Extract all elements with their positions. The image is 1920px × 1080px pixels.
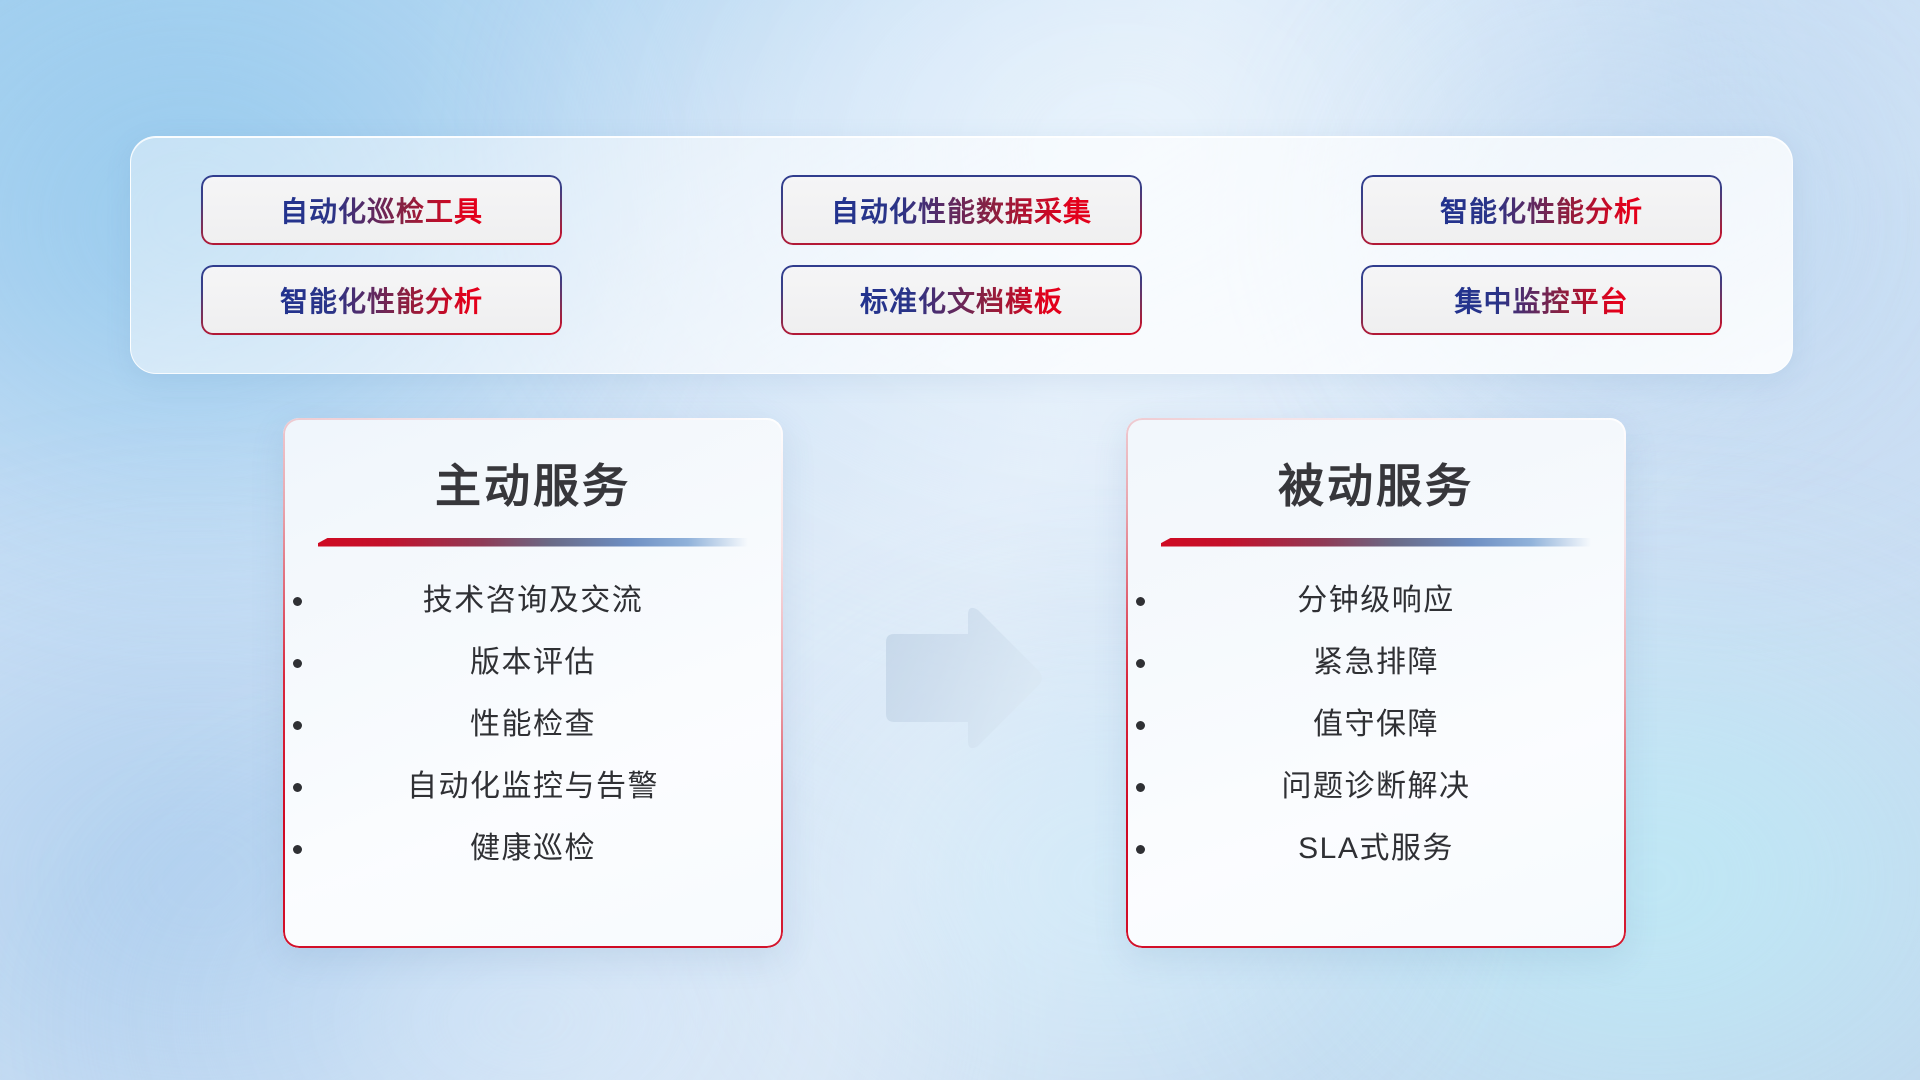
tool-chip-label: 自动化巡检工具 xyxy=(280,190,483,230)
list-item: 性能检查 xyxy=(317,705,749,744)
tool-chip-performance-data-collection[interactable]: 自动化性能数据采集 xyxy=(783,177,1140,243)
list-item: 版本评估 xyxy=(317,643,749,682)
tool-chip-label: 智能化性能分析 xyxy=(1440,190,1643,230)
card-inner: 主动服务 技术咨询及交流 版本评估 性能检查 自动化监控与告警 健康巡检 xyxy=(283,418,783,948)
list-item: 技术咨询及交流 xyxy=(317,581,749,620)
tools-row-1: 自动化巡检工具 自动化性能数据采集 智能化性能分析 xyxy=(203,177,1720,243)
tool-chip-intelligent-performance-analysis-1[interactable]: 智能化性能分析 xyxy=(1363,177,1720,243)
arrow-right-icon xyxy=(872,604,1044,752)
list-item: SLA式服务 xyxy=(1160,829,1592,868)
tool-chip-automated-inspection[interactable]: 自动化巡检工具 xyxy=(203,177,560,243)
card-list-passive: 分钟级响应 紧急排障 值守保障 问题诊断解决 SLA式服务 xyxy=(1160,581,1592,868)
tools-panel: 自动化巡检工具 自动化性能数据采集 智能化性能分析 智能化性能分析 标准化文档模… xyxy=(130,136,1793,374)
tool-chip-label: 自动化性能数据采集 xyxy=(831,190,1092,230)
list-item: 问题诊断解决 xyxy=(1160,767,1592,806)
list-item: 自动化监控与告警 xyxy=(317,767,749,806)
service-card-active: 主动服务 技术咨询及交流 版本评估 性能检查 自动化监控与告警 健康巡检 xyxy=(283,418,783,948)
card-list-active: 技术咨询及交流 版本评估 性能检查 自动化监控与告警 健康巡检 xyxy=(317,581,749,868)
tool-chip-label: 标准化文档模板 xyxy=(860,280,1063,320)
tool-chip-central-monitoring-platform[interactable]: 集中监控平台 xyxy=(1363,267,1720,333)
card-title-active: 主动服务 xyxy=(317,458,749,516)
tool-chip-standard-doc-template[interactable]: 标准化文档模板 xyxy=(783,267,1140,333)
service-card-passive: 被动服务 分钟级响应 紧急排障 值守保障 问题诊断解决 SLA式服务 xyxy=(1126,418,1626,948)
tools-row-2: 智能化性能分析 标准化文档模板 集中监控平台 xyxy=(203,267,1720,333)
card-divider-bar xyxy=(1161,538,1591,547)
list-item: 分钟级响应 xyxy=(1160,581,1592,620)
tool-chip-label: 智能化性能分析 xyxy=(280,280,483,320)
list-item: 值守保障 xyxy=(1160,705,1592,744)
card-inner: 被动服务 分钟级响应 紧急排障 值守保障 问题诊断解决 SLA式服务 xyxy=(1126,418,1626,948)
list-item: 紧急排障 xyxy=(1160,643,1592,682)
tool-chip-label: 集中监控平台 xyxy=(1454,280,1628,320)
tool-chip-intelligent-performance-analysis-2[interactable]: 智能化性能分析 xyxy=(203,267,560,333)
card-title-passive: 被动服务 xyxy=(1160,458,1592,516)
card-divider xyxy=(318,538,748,547)
card-divider xyxy=(1161,538,1591,547)
card-divider-bar xyxy=(318,538,748,547)
list-item: 健康巡检 xyxy=(317,829,749,868)
